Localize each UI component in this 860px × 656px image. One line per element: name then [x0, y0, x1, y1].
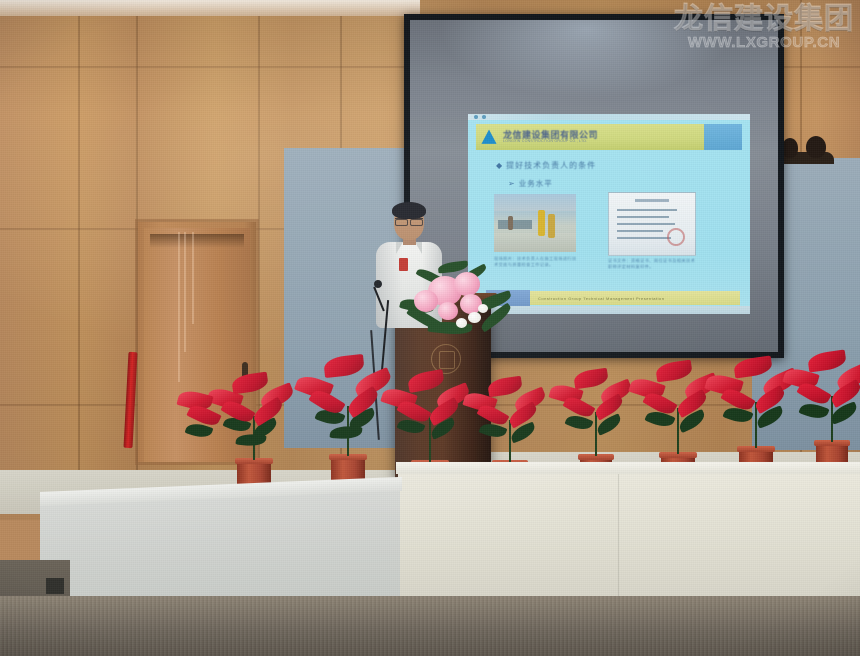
door-streak — [184, 232, 186, 352]
poinsettia-bract — [733, 355, 773, 378]
pink-flower — [454, 272, 480, 296]
pink-flower — [414, 290, 438, 312]
doc-line — [617, 230, 663, 232]
slide-header: 龙信建设集团有限公司 LONGXIN CONSTRUCTION GROUP CO… — [476, 124, 704, 150]
pink-flower — [438, 302, 458, 320]
photo-sky — [494, 194, 576, 211]
white-flower — [468, 312, 481, 323]
poinsettia-bract — [407, 369, 446, 393]
poinsettia-bract — [573, 368, 609, 390]
doc-line — [617, 223, 675, 225]
slide-bullet: ➢ 业务水平 — [508, 178, 553, 189]
doc-line — [617, 209, 677, 211]
shirt-collar — [415, 242, 422, 254]
poinsettia-bract — [323, 354, 365, 378]
plant-stem — [429, 418, 431, 462]
chrome-dot-icon — [482, 115, 486, 119]
door-streak — [192, 232, 194, 324]
projector-glow — [410, 20, 778, 115]
audience-head — [806, 136, 826, 158]
audience-head — [782, 138, 798, 158]
plant-leaf — [330, 425, 363, 440]
stage-panel-seam — [618, 474, 619, 606]
plant-stem — [509, 420, 511, 462]
doc-title-line — [635, 199, 669, 202]
bullet-marker-icon: ◆ — [496, 162, 502, 170]
photo-equipment — [498, 220, 532, 229]
photo-worker — [548, 214, 555, 238]
plant-stem — [677, 408, 679, 454]
doc-line — [617, 237, 671, 239]
slide-footer-text: Construction Group Technical Management … — [538, 296, 664, 301]
photo-worker — [538, 210, 545, 236]
photo-ground — [494, 233, 576, 252]
poinsettia-plant — [178, 386, 248, 496]
photo-worker — [508, 216, 513, 230]
door-recess-shadow — [150, 234, 244, 248]
triangle-logo-icon — [480, 128, 498, 146]
ceiling-strip — [0, 0, 420, 16]
floor-object — [46, 578, 64, 594]
slide-caption-right: 证书文件：资格证书、岗位证书及相关技术职称评定材料复印件。 — [608, 258, 696, 270]
plant-stem — [595, 412, 597, 456]
poinsettia-bract — [655, 360, 693, 383]
poinsettia-plant — [784, 352, 860, 476]
slide-footer-strip: Construction Group Technical Management … — [530, 291, 740, 305]
white-flower — [478, 304, 488, 313]
slide-certificate-image — [608, 192, 696, 256]
slide-bullet-text: 业务水平 — [519, 178, 553, 189]
white-flower — [456, 318, 467, 328]
conference-hall-photo: 龙信建设集团有限公司 LONGXIN CONSTRUCTION GROUP CO… — [0, 0, 860, 656]
doc-seal-icon — [667, 228, 685, 246]
stage-front-cap — [396, 462, 860, 474]
slide-company-en: LONGXIN CONSTRUCTION GROUP CO., LTD. — [503, 140, 598, 144]
presenter-hair — [392, 202, 426, 219]
slide-bullet: ◆ 提好技术负责人的条件 — [496, 160, 596, 171]
shirt-collar — [396, 242, 403, 254]
slide-site-photo — [494, 194, 576, 252]
slide-bullet-text: 提好技术负责人的条件 — [506, 160, 596, 171]
poinsettia-bract — [487, 376, 523, 398]
poinsettia-bract — [807, 349, 847, 372]
stage-front-panel — [398, 470, 860, 610]
slide-header-accent — [704, 124, 742, 150]
door-streak — [178, 232, 180, 382]
doc-line — [617, 216, 669, 218]
chrome-dot-icon — [474, 115, 478, 119]
slide-window-chrome — [468, 114, 750, 120]
podium-flower-arrangement — [398, 256, 518, 352]
eyeglasses-icon — [395, 218, 423, 224]
carpet-texture — [0, 596, 860, 656]
bullet-marker-icon: ➢ — [508, 180, 515, 188]
